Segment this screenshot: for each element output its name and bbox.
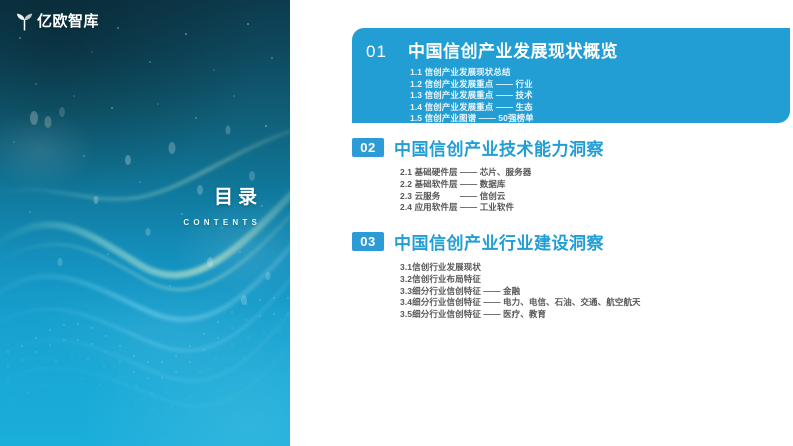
brand-logo[interactable]: 亿欧智库	[16, 12, 99, 31]
list-item[interactable]: 2.2 基础软件层 —— 数据库	[400, 179, 790, 191]
toc-section-02[interactable]: 02 中国信创产业技术能力洞察 2.1 基础硬件层 —— 芯片、服务器 2.2 …	[352, 135, 790, 214]
list-item[interactable]: 3.3细分行业信创特征 —— 金融	[400, 286, 790, 298]
list-item[interactable]: 2.3 云服务 —— 信创云	[400, 191, 790, 203]
section-03-header: 03 中国信创产业行业建设洞察	[352, 229, 790, 254]
section-01-item-list: 1.1 信创产业发展现状总结 1.2 信创产业发展重点 —— 行业 1.3 信创…	[410, 67, 790, 125]
toc-section-03[interactable]: 03 中国信创产业行业建设洞察 3.1信创行业发展现状 3.2信创行业布局特征 …	[352, 229, 790, 321]
list-item[interactable]: 2.1 基础硬件层 —— 芯片、服务器	[400, 167, 790, 179]
list-item[interactable]: 3.1信创行业发展现状	[400, 262, 790, 274]
section-03-title: 中国信创产业行业建设洞察	[394, 229, 604, 254]
section-02-title: 中国信创产业技术能力洞察	[394, 135, 604, 160]
section-01-header: 01 中国信创产业发展现状概览	[352, 28, 790, 62]
toc-section-01[interactable]: 01 中国信创产业发展现状概览 1.1 信创产业发展现状总结 1.2 信创产业发…	[352, 28, 790, 123]
list-item[interactable]: 3.5细分行业信创特征 —— 医疗、教育	[400, 309, 790, 321]
section-01-title: 中国信创产业发展现状概览	[408, 37, 618, 62]
list-item[interactable]: 1.3 信创产业发展重点 —— 技术	[410, 90, 790, 102]
section-03-number-badge: 03	[352, 232, 384, 251]
list-item[interactable]: 1.1 信创产业发展现状总结	[410, 67, 790, 79]
list-item[interactable]: 3.2信创行业布局特征	[400, 274, 790, 286]
list-item[interactable]: 1.4 信创产业发展重点 —— 生态	[410, 102, 790, 114]
sprout-mark-icon	[16, 12, 33, 31]
slide-root: 亿欧智库 目录 CONTENTS 01 中国信创产业发展现状概览 1.1 信创产…	[0, 0, 793, 446]
list-item[interactable]: 1.5 信创产业图谱 —— 50强榜单	[410, 113, 790, 125]
section-03-item-list: 3.1信创行业发展现状 3.2信创行业布局特征 3.3细分行业信创特征 —— 金…	[400, 262, 790, 321]
contents-heading-block: 目录 CONTENTS	[183, 188, 257, 227]
contents-title-cn: 目录	[183, 188, 262, 209]
brand-logo-text: 亿欧智库	[37, 14, 99, 29]
list-item[interactable]: 2.4 应用软件层 —— 工业软件	[400, 202, 790, 214]
contents-title-en: CONTENTS	[183, 218, 261, 227]
section-02-item-list: 2.1 基础硬件层 —— 芯片、服务器 2.2 基础软件层 —— 数据库 2.3…	[400, 167, 790, 214]
section-02-number-badge: 02	[352, 138, 384, 157]
left-decorative-panel: 亿欧智库 目录 CONTENTS	[0, 0, 290, 446]
list-item[interactable]: 1.2 信创产业发展重点 —— 行业	[410, 79, 790, 91]
list-item[interactable]: 3.4细分行业信创特征 —— 电力、电信、石油、交通、航空航天	[400, 297, 790, 309]
section-02-header: 02 中国信创产业技术能力洞察	[352, 135, 790, 160]
toc-content-area: 01 中国信创产业发展现状概览 1.1 信创产业发展现状总结 1.2 信创产业发…	[290, 0, 793, 446]
section-01-number: 01	[366, 42, 408, 62]
